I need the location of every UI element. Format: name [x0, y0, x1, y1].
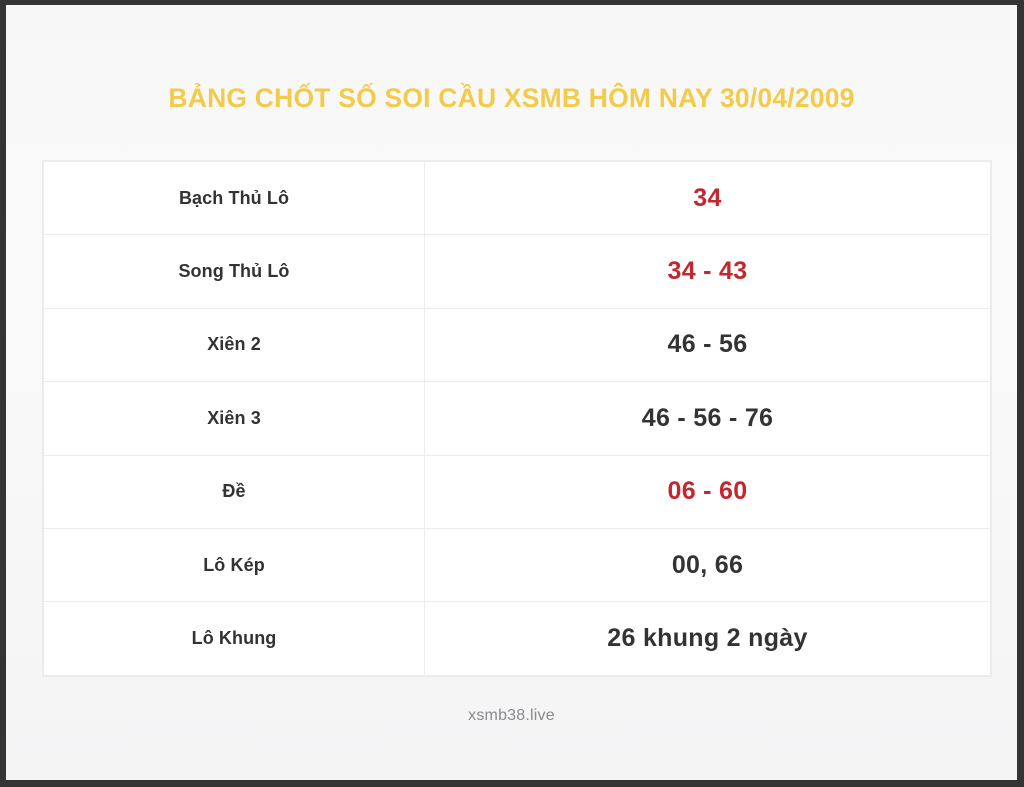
page-canvas: BẢNG CHỐT SỐ SOI CẦU XSMB HÔM NAY 30/04/…: [6, 5, 1017, 780]
table-row: Xiên 346 - 56 - 76: [44, 382, 991, 455]
page-title: BẢNG CHỐT SỐ SOI CẦU XSMB HÔM NAY 30/04/…: [6, 83, 1017, 115]
row-label: Xiên 3: [44, 382, 425, 455]
table-row: Lô Kép00, 66: [44, 528, 991, 601]
row-label: Lô Khung: [44, 602, 425, 675]
table-row: Xiên 246 - 56: [44, 308, 991, 381]
row-label: Bạch Thủ Lô: [44, 162, 425, 235]
row-value: 06 - 60: [425, 455, 991, 528]
row-value: 26 khung 2 ngày: [425, 602, 991, 675]
row-value: 34: [425, 162, 991, 235]
row-label: Lô Kép: [44, 528, 425, 601]
table-row: Đề06 - 60: [44, 455, 991, 528]
row-value: 00, 66: [425, 528, 991, 601]
row-value: 46 - 56: [425, 308, 991, 381]
prediction-table: Bạch Thủ Lô34Song Thủ Lô34 - 43Xiên 246 …: [43, 161, 991, 676]
row-label: Đề: [44, 455, 425, 528]
row-value: 34 - 43: [425, 235, 991, 308]
image-frame: BẢNG CHỐT SỐ SOI CẦU XSMB HÔM NAY 30/04/…: [0, 0, 1024, 787]
site-watermark: xsmb38.live: [6, 707, 1017, 725]
table-row: Bạch Thủ Lô34: [44, 162, 991, 235]
row-label: Song Thủ Lô: [44, 235, 425, 308]
prediction-table-body: Bạch Thủ Lô34Song Thủ Lô34 - 43Xiên 246 …: [44, 162, 991, 676]
row-label: Xiên 2: [44, 308, 425, 381]
row-value: 46 - 56 - 76: [425, 382, 991, 455]
table-row: Lô Khung26 khung 2 ngày: [44, 602, 991, 675]
table-row: Song Thủ Lô34 - 43: [44, 235, 991, 308]
